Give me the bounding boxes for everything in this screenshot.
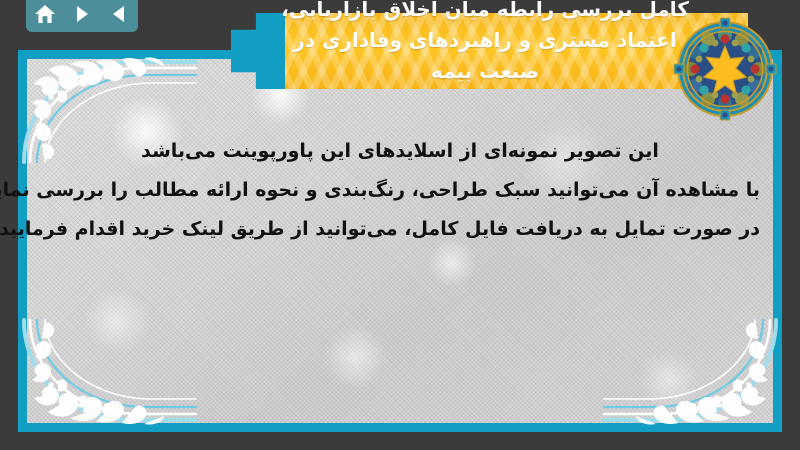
slide-body-text: این تصویر نمونه‌ای از اسلایدهای این پاور… [40,132,760,249]
house-icon [34,4,56,24]
slide-navigation-bar [26,0,138,32]
previous-slide-button[interactable] [106,2,132,26]
next-slide-button[interactable] [69,2,95,26]
left-arrow-icon [109,5,129,23]
title-banner [270,13,748,89]
right-arrow-icon [72,5,92,23]
home-button[interactable] [32,2,58,26]
slide-viewer: این تصویر نمونه‌ای از اسلایدهای این پاور… [0,0,800,450]
body-line-3: در صورت تمایل به دریافت فایل کامل، می‌تو… [40,210,760,249]
body-line-2: با مشاهده آن می‌توانید سبک طراحی، رنگ‌بن… [40,171,760,210]
body-line-1: این تصویر نمونه‌ای از اسلایدهای این پاور… [40,132,760,171]
